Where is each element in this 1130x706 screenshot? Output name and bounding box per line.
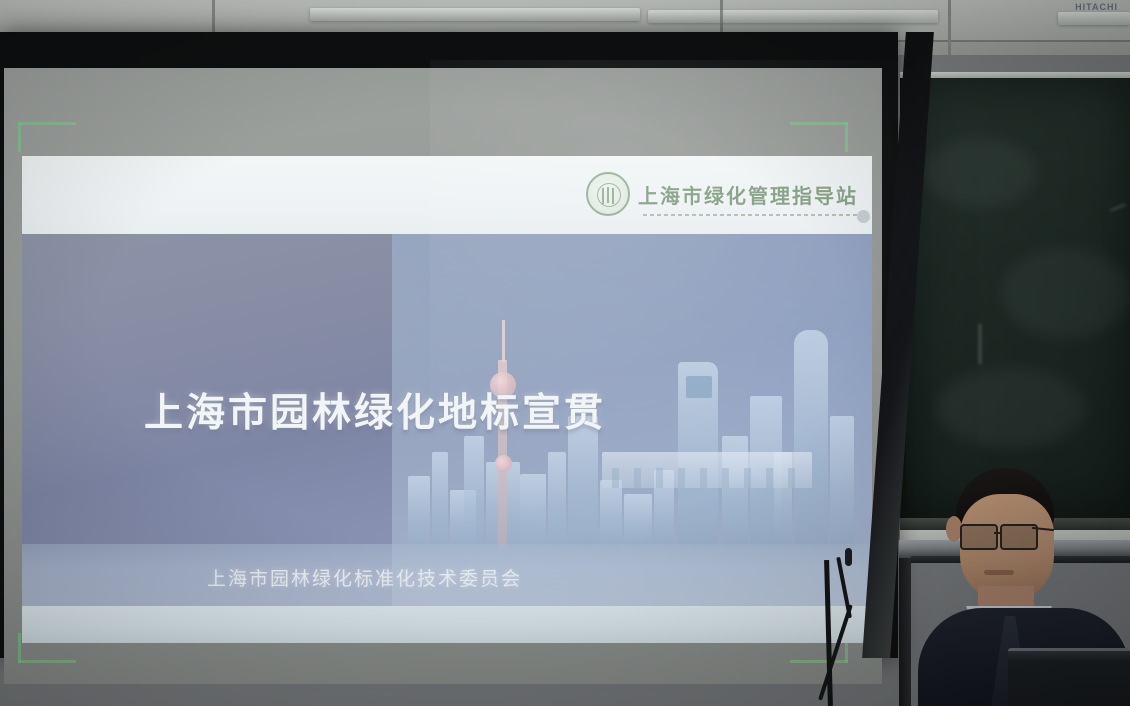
bund-colonnade [602, 452, 812, 488]
slide-organization: 上海市园林绿化标准化技术委员会 [207, 564, 522, 591]
presentation-slide: 上海市绿化管理指导站 [22, 156, 872, 643]
slide-title: 上海市园林绿化地标宣贯 [144, 382, 606, 438]
presenter-mouth [984, 570, 1014, 575]
logo-underline [643, 214, 858, 216]
presenter-table-leg [899, 558, 911, 706]
header-dot-icon [857, 210, 870, 223]
slide-footer-band [22, 606, 872, 643]
slide-body: 上海市园林绿化地标宣贯 上海市园林绿化标准化技术委员会 2024 年 3 月 2… [22, 234, 872, 606]
shanghai-tower [794, 330, 828, 548]
projection-surface: 屏幕共享中 上海市绿化管理指导站 [4, 68, 882, 684]
projector-vendor-mark: HITACHI [1075, 2, 1118, 12]
screenshot-root: HITACHI 屏幕共 [0, 0, 1130, 706]
microphone-head [845, 548, 852, 566]
green-seal-emblem-icon [586, 172, 630, 216]
blackboard [900, 78, 1130, 518]
laptop [1008, 648, 1130, 706]
organization-logo-text: 上海市绿化管理指导站 [638, 180, 858, 209]
ceiling-light-fixture [1058, 12, 1130, 25]
ceiling-light-fixture [310, 8, 640, 21]
eyeglasses-left-lens-icon [960, 524, 998, 550]
ceiling-light-fixture [648, 10, 938, 23]
eyeglasses-bridge [994, 532, 1002, 534]
organization-logo: 上海市绿化管理指导站 [586, 172, 858, 216]
slide-header-band: 上海市绿化管理指导站 [22, 156, 872, 234]
projector-screen-frame: 屏幕共享中 上海市绿化管理指导站 [0, 32, 898, 658]
